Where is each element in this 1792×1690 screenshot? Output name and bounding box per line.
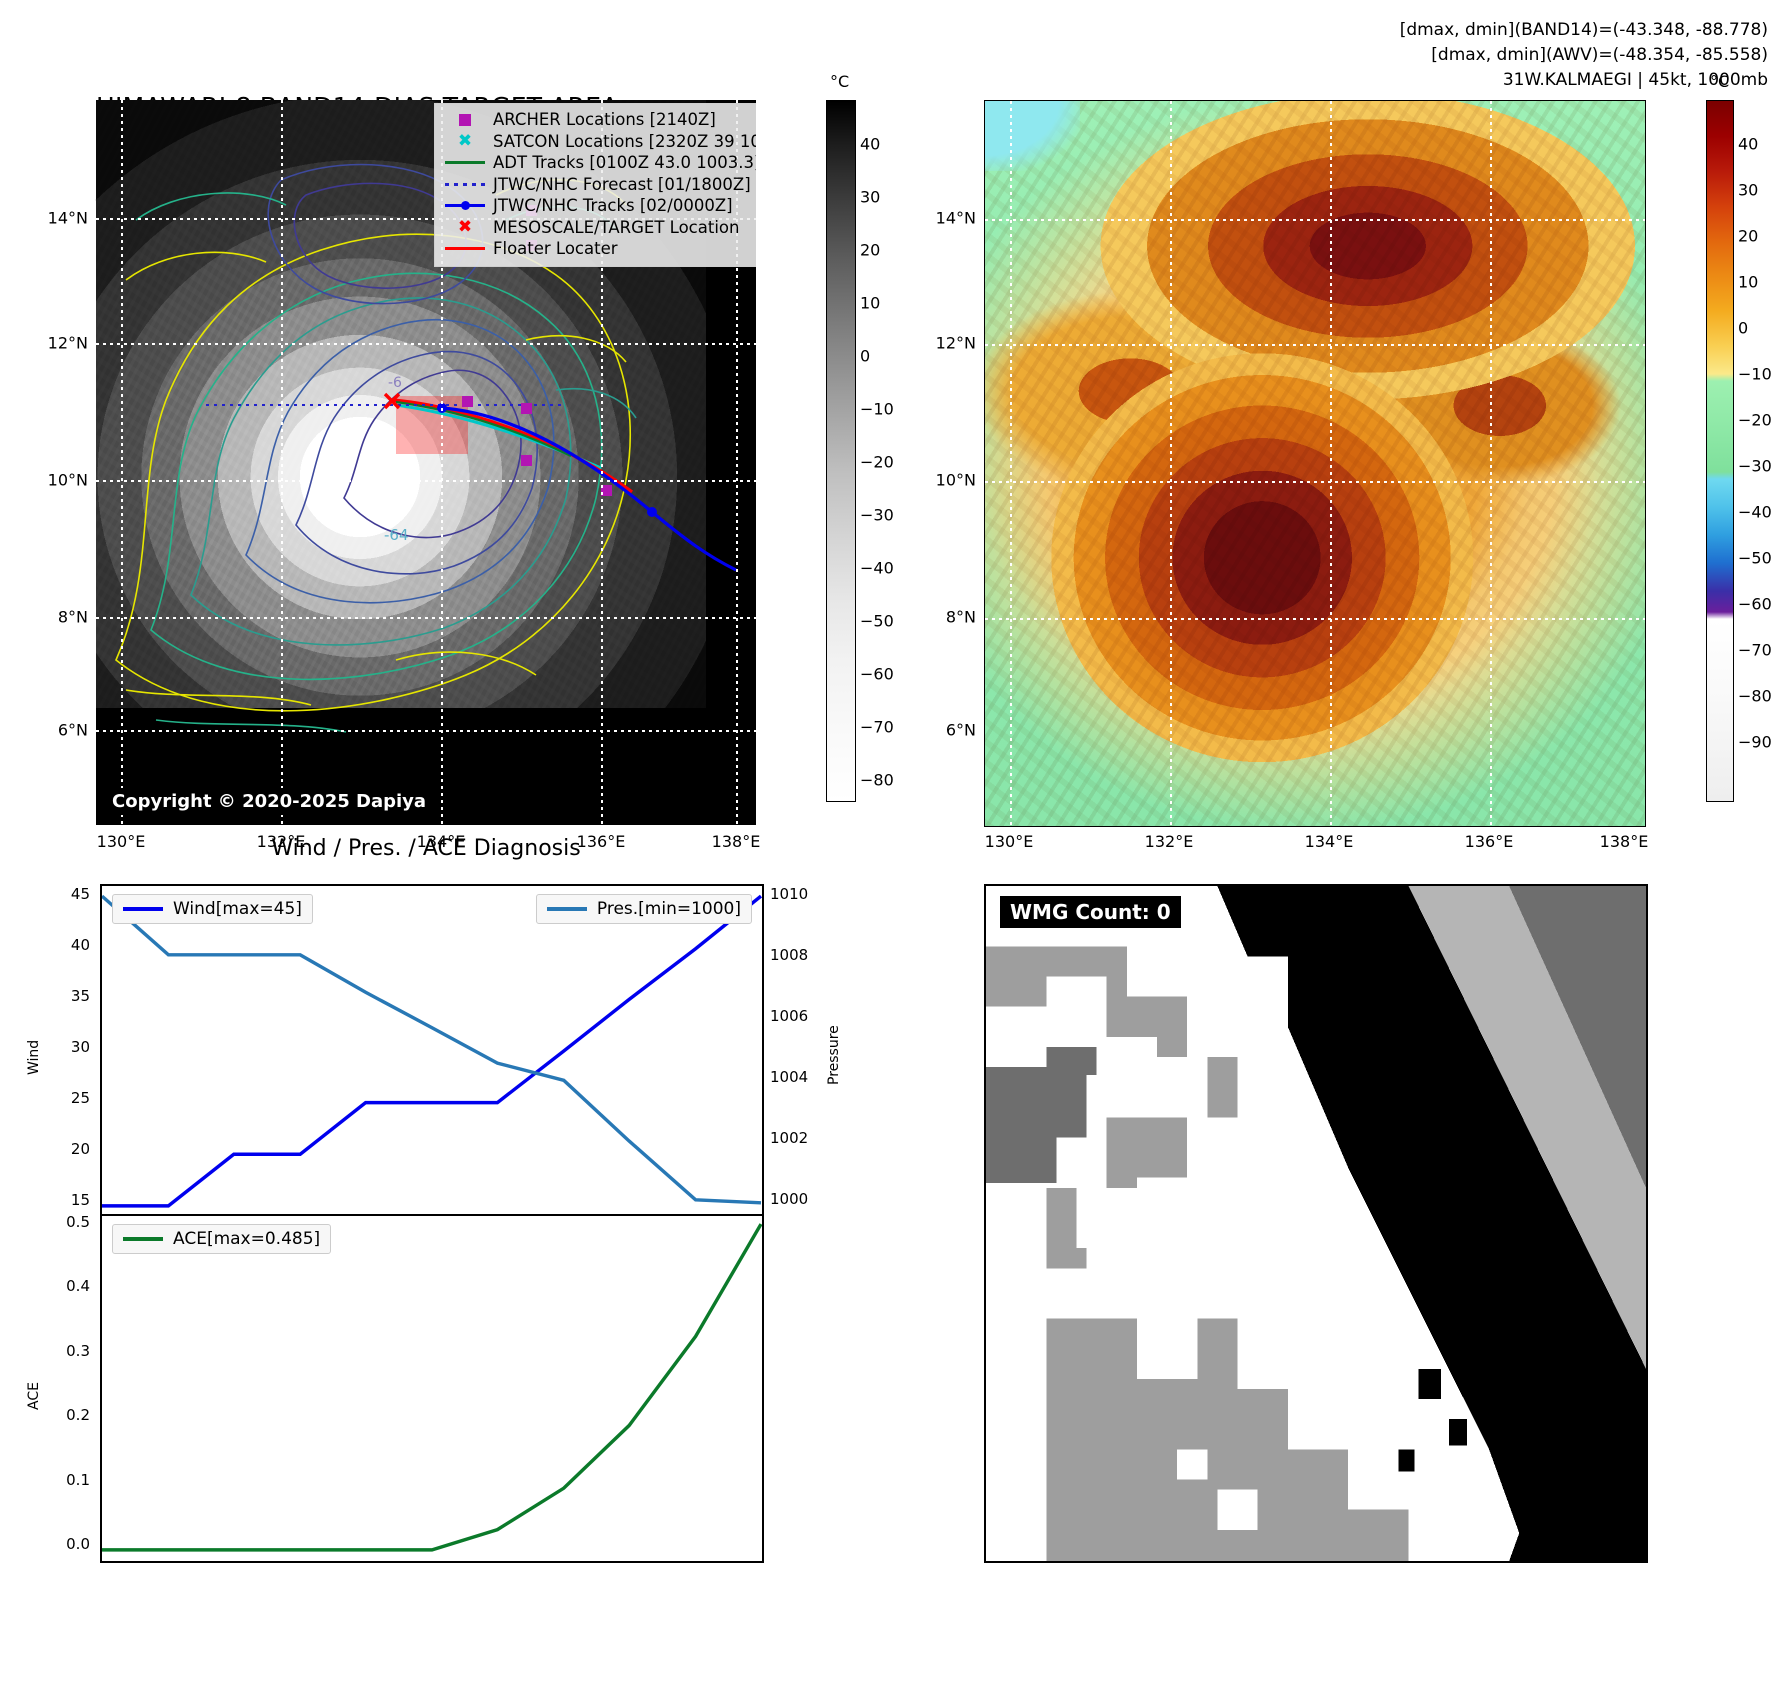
grayscale-colorbar-unit: °C (830, 72, 849, 91)
enhanced-colorbar-unit: °C (1710, 72, 1729, 91)
legend-item-tracks: JTWC/NHC Tracks [02/0000Z] (443, 195, 756, 217)
green-line-icon (443, 161, 487, 164)
legend-label-mesoscale: MESOSCALE/TARGET Location (493, 217, 739, 239)
legend-item-satcon: ✖ SATCON Locations [2320Z 39 1003] (443, 131, 756, 153)
awv-cold-top-corner (985, 101, 1080, 171)
magenta-square-marker-icon (443, 114, 487, 126)
awv-cloud-texture (985, 101, 1645, 826)
ir-y-axis-labels: 14°N 12°N 10°N 8°N 6°N (20, 100, 88, 825)
ir-panel-legend: ARCHER Locations [2140Z] ✖ SATCON Locati… (434, 103, 756, 267)
pressure-legend-swatch (547, 907, 587, 911)
cyan-x-marker-icon: ✖ (443, 133, 487, 150)
pressure-legend: Pres.[min=1000] (536, 894, 752, 924)
wind-pressure-plot (102, 886, 762, 1216)
pressure-series-line (102, 896, 761, 1203)
legend-item-adt: ADT Tracks [0100Z 43.0 1003.3] (443, 152, 756, 174)
pressure-legend-label: Pres.[min=1000] (597, 899, 741, 919)
grayscale-colorbar-gradient (826, 100, 856, 802)
legend-label-forecast: JTWC/NHC Forecast [01/1800Z] (493, 174, 751, 196)
ace-legend: ACE[max=0.485] (112, 1224, 331, 1254)
legend-label-satcon: SATCON Locations [2320Z 39 1003] (493, 131, 756, 153)
legend-item-archer: ARCHER Locations [2140Z] (443, 109, 756, 131)
wind-legend-swatch (123, 907, 163, 911)
copyright-notice: Copyright © 2020-2025 Dapiya (104, 788, 434, 815)
legend-item-forecast: JTWC/NHC Forecast [01/1800Z] (443, 174, 756, 196)
awv-y-axis-labels: 14°N 12°N 10°N 8°N 6°N (908, 100, 976, 825)
ace-legend-label: ACE[max=0.485] (173, 1229, 320, 1249)
wind-pres-ace-title: Wind / Pres. / ACE Diagnosis (96, 836, 756, 861)
wind-series-line (102, 896, 761, 1206)
red-line-icon (443, 247, 487, 250)
blue-line-dot-icon (443, 204, 487, 207)
legend-label-archer: ARCHER Locations [2140Z] (493, 109, 716, 131)
wmg-raster (986, 886, 1646, 1561)
red-x-marker-icon: ✖ (443, 219, 487, 236)
blue-dotted-line-icon (443, 183, 487, 186)
wind-legend-label: Wind[max=45] (173, 899, 302, 919)
wind-legend: Wind[max=45] (112, 894, 313, 924)
legend-item-mesoscale: ✖ MESOSCALE/TARGET Location (443, 217, 756, 239)
ace-series-line (102, 1224, 761, 1550)
enhanced-colorbar-gradient (1706, 100, 1734, 802)
ace-legend-swatch (123, 1237, 163, 1241)
svg-text:-6: -6 (388, 375, 402, 391)
grayscale-colorbar: °C 40 30 20 10 0 −10 −20 −30 −40 −50 −60… (838, 72, 898, 832)
svg-text:-64: -64 (384, 526, 409, 544)
wind-axis-label: Wind (26, 1040, 42, 1075)
dashboard-root: HIMAWARI-8 BAND14-DIAS TARGET AREA Time:… (0, 0, 1792, 1690)
legend-label-tracks: JTWC/NHC Tracks [02/0000Z] (493, 195, 733, 217)
pressure-axis-label: Pressure (826, 1025, 842, 1085)
ir-satellite-panel[interactable]: -64 -6 Copyright © 2020-2025 Dapiya ARCH… (96, 100, 756, 825)
wmg-count-badge: WMG Count: 0 (1000, 896, 1181, 928)
pressure-y-axis: 1010 1008 1006 1004 1002 1000 (762, 884, 822, 1214)
legend-label-floater: Floater Locater (493, 238, 618, 260)
dmax-dmin-awv: [dmax, dmin](AWV)=(-48.354, -85.558) (1400, 43, 1768, 68)
ace-axis-label: ACE (26, 1382, 42, 1410)
legend-label-adt: ADT Tracks [0100Z 43.0 1003.3] (493, 152, 756, 174)
ace-chart[interactable]: ACE[max=0.485] (100, 1214, 764, 1563)
enhanced-colorbar: °C 40 30 20 10 0 −10 −20 −30 −40 −50 −60… (1718, 72, 1788, 832)
dmax-dmin-band14: [dmax, dmin](BAND14)=(-43.348, -88.778) (1400, 18, 1768, 43)
legend-item-floater: Floater Locater (443, 238, 756, 260)
wind-pressure-chart[interactable]: Wind[max=45] Pres.[min=1000] (100, 884, 764, 1218)
ace-y-axis: 0.5 0.4 0.3 0.2 0.1 0.0 (40, 1214, 98, 1559)
awv-satellite-panel[interactable] (984, 100, 1646, 827)
wind-y-axis: 45 40 35 30 25 20 15 (40, 884, 98, 1214)
wmg-panel[interactable]: WMG Count: 0 (984, 884, 1648, 1563)
ace-plot (102, 1216, 762, 1561)
